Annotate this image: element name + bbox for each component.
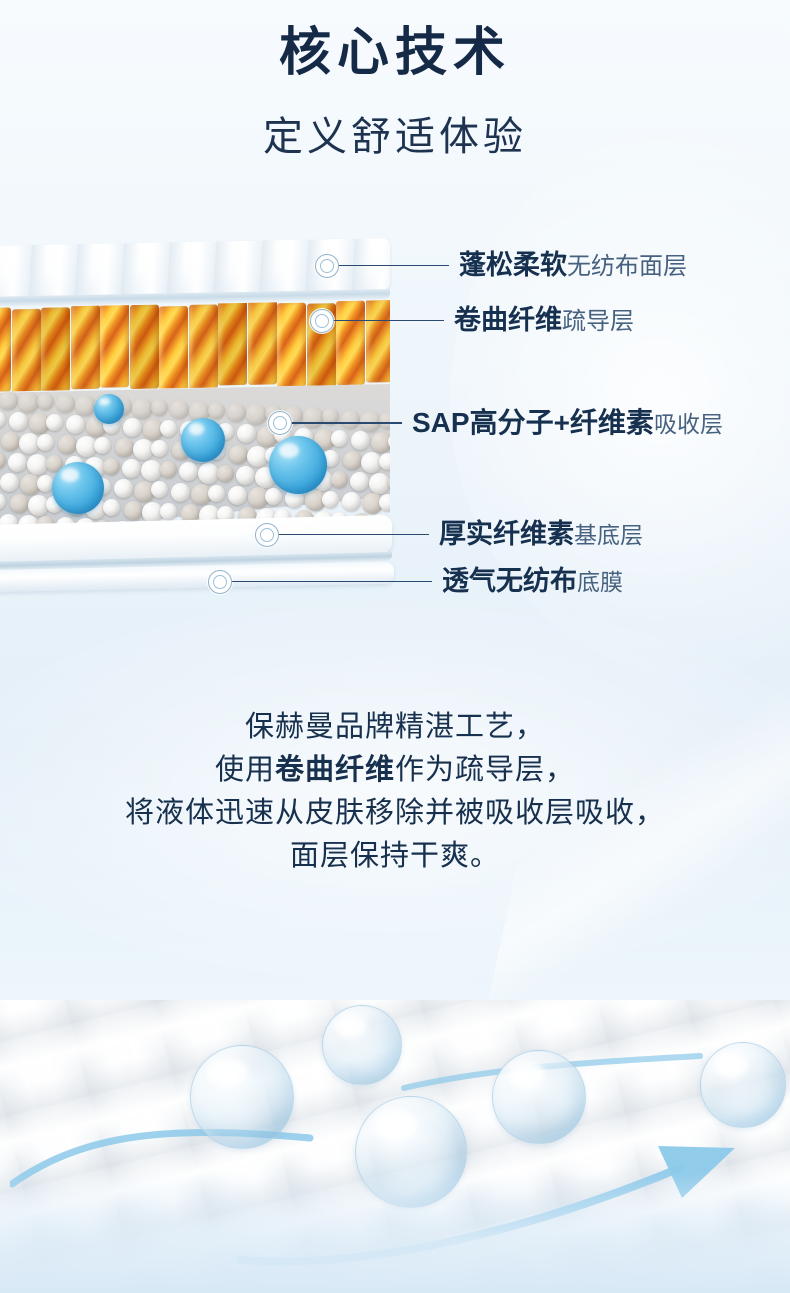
sap-particle: [66, 415, 85, 434]
sap-particle: [18, 392, 39, 413]
water-bubble: [700, 1042, 786, 1128]
callout-light-text: 基底层: [574, 522, 643, 548]
fabric-bubbles-scene: [0, 1000, 790, 1293]
sap-particle: [123, 418, 142, 437]
curly-fiber-strand: [100, 303, 129, 388]
callout-substrate-layer: 厚实纤维素基底层: [255, 521, 643, 548]
liquid-droplet: [52, 462, 104, 514]
sap-particle: [342, 492, 361, 511]
callout-label: 透气无纺布底膜: [442, 568, 623, 595]
callout-leader-line: [334, 320, 444, 321]
callout-leader-line: [292, 422, 402, 423]
curly-fiber-strand: [248, 301, 277, 386]
curly-fiber-strand: [277, 303, 306, 388]
callout-absorbent-layer: SAP高分子+纤维素吸收层: [268, 409, 723, 437]
curly-fiber-strand: [159, 306, 188, 391]
callout-backsheet-layer: 透气无纺布底膜: [208, 568, 623, 595]
sap-particle: [75, 395, 96, 416]
sap-particle: [56, 394, 75, 413]
page-subtitle: 定义舒适体验: [0, 104, 790, 162]
callout-surface-layer: 蓬松柔软无纺布面层: [315, 252, 687, 279]
sap-particle: [46, 414, 63, 431]
callout-label: 蓬松柔软无纺布面层: [459, 252, 687, 279]
curly-fiber-strand: [12, 309, 41, 392]
liquid-droplet: [181, 418, 225, 462]
description-line-2-pre: 使用: [215, 754, 275, 786]
sap-particle: [217, 465, 234, 482]
sap-particle: [171, 483, 190, 502]
description-line-4: 面层保持干爽。: [0, 835, 790, 878]
curly-fiber-strand: [130, 305, 159, 390]
sap-particle: [331, 471, 348, 488]
sap-particle: [1, 432, 20, 451]
description-line-2-strong: 卷曲纤维: [275, 754, 395, 786]
curly-fiber-strand: [41, 307, 70, 392]
curly-fiber-strand: [189, 304, 218, 389]
callout-strong-text: 蓬松柔软: [459, 250, 567, 280]
callout-light-text: 无纺布面层: [567, 253, 687, 280]
curly-fiber-strand: [0, 307, 11, 391]
callout-strong-text: SAP高分子+纤维素: [412, 407, 654, 438]
callout-marker-icon: [310, 309, 334, 333]
description-line-2-post: 作为疏导层，: [395, 754, 575, 786]
sap-particle: [208, 485, 225, 502]
callout-label: 厚实纤维素基底层: [439, 521, 643, 548]
sap-particle: [8, 453, 27, 472]
layer-sap-absorbent-core: [0, 384, 390, 536]
callout-marker-icon: [255, 523, 279, 547]
callout-label: 卷曲纤维疏导层: [454, 307, 634, 334]
sap-particle: [369, 473, 390, 494]
sap-particle: [350, 472, 369, 491]
callout-light-text: 疏导层: [562, 308, 634, 335]
sap-particle: [322, 491, 339, 508]
callout-transfer-layer: 卷曲纤维疏导层: [310, 307, 634, 334]
sap-particle: [9, 412, 28, 431]
sap-particle: [236, 466, 255, 485]
sap-particle: [0, 391, 18, 410]
callout-strong-text: 厚实纤维素: [439, 519, 574, 549]
water-bubble: [322, 1005, 402, 1085]
callout-leader-line: [279, 534, 429, 535]
sap-particle: [124, 501, 143, 520]
page-title: 核心技术: [0, 24, 790, 82]
sap-particle: [379, 494, 390, 511]
description-paragraph: 保赫曼品牌精湛工艺， 使用卷曲纤维作为疏导层， 将液体迅速从皮肤移除并被吸收层吸…: [0, 706, 790, 878]
callout-light-text: 底膜: [577, 569, 623, 595]
infographic-page: 核心技术 定义舒适体验 蓬松柔软无纺布面层 卷曲纤维疏导层 SAP高分子+纤维素…: [0, 0, 790, 1293]
sap-particle: [37, 393, 54, 410]
sap-particle: [170, 400, 189, 419]
sap-particle: [27, 454, 48, 475]
sap-particle: [132, 398, 153, 419]
callout-marker-icon: [268, 411, 292, 435]
description-line-3: 将液体迅速从皮肤移除并被吸收层吸收，: [0, 792, 790, 835]
sap-particle: [265, 488, 282, 505]
callout-leader-line: [232, 581, 432, 582]
sap-particle: [343, 451, 362, 470]
callout-marker-icon: [208, 570, 232, 594]
sap-particle: [228, 486, 247, 505]
curly-fiber-strand: [71, 304, 100, 389]
callout-marker-icon: [315, 254, 339, 278]
sap-particle: [229, 445, 248, 464]
callout-strong-text: 透气无纺布: [442, 566, 577, 596]
water-bubble: [190, 1045, 294, 1149]
sap-particle: [37, 434, 54, 451]
callout-label: SAP高分子+纤维素吸收层: [412, 409, 723, 437]
callout-leader-line: [339, 265, 449, 266]
description-line-1: 保赫曼品牌精湛工艺，: [0, 706, 790, 749]
liquid-droplet: [94, 394, 124, 424]
scene-bottom-fade: [0, 1173, 790, 1293]
sap-particle: [94, 437, 111, 454]
curly-fiber-strand: [218, 301, 247, 386]
sap-particle: [151, 399, 168, 416]
description-line-2: 使用卷曲纤维作为疏导层，: [0, 749, 790, 792]
sap-particle: [160, 503, 177, 520]
water-bubble: [492, 1050, 586, 1144]
callout-light-text: 吸收层: [654, 411, 723, 437]
callout-strong-text: 卷曲纤维: [454, 305, 562, 335]
sap-particle: [379, 453, 390, 470]
liquid-droplet: [269, 436, 327, 494]
